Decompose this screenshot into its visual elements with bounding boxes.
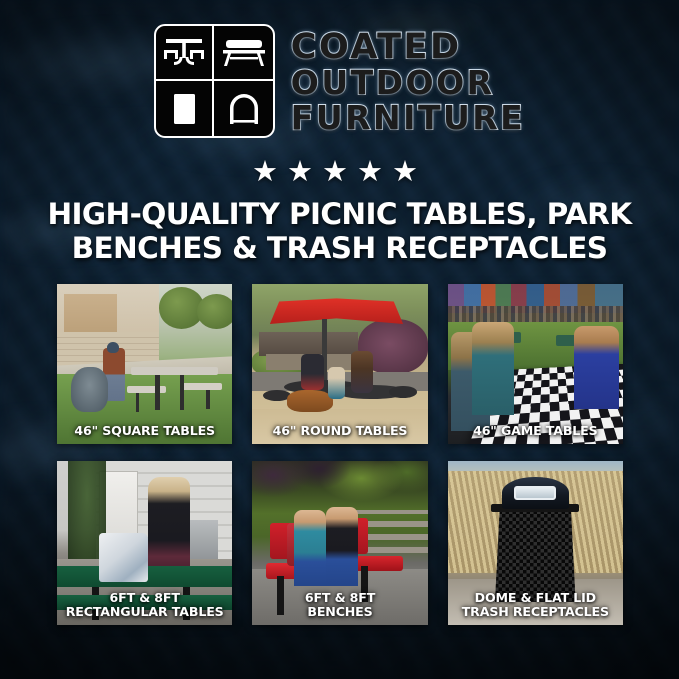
tile-caption-trash-receptacles: DOME & FLAT LID TRASH RECEPTACLES (450, 591, 621, 619)
poster-image: COATED OUTDOOR FURNITURE ★★★★★ HIGH-QUAL… (0, 0, 679, 679)
star-icon-4: ★ (357, 158, 392, 187)
caption-line: 46" SQUARE TABLES (59, 424, 230, 438)
star-icon-1: ★ (252, 158, 287, 187)
caption-line: RECTANGULAR TABLES (59, 605, 230, 619)
tile-caption-square-tables: 46" SQUARE TABLES (59, 424, 230, 438)
headline: HIGH-QUALITY PICNIC TABLES, PARK BENCHES… (30, 198, 649, 265)
tile-caption-round-tables: 46" ROUND TABLES (254, 424, 425, 438)
headline-line-2: BENCHES & TRASH RECEPTACLES (30, 232, 649, 266)
caption-line: 6FT & 8FT (59, 591, 230, 605)
caption-line: 46" GAME TABLES (450, 424, 621, 438)
caption-line: DOME & FLAT LID (450, 591, 621, 605)
logo-cell-bike-rack (214, 81, 273, 136)
product-tile-rectangular-tables[interactable]: 6FT & 8FT RECTANGULAR TABLES (57, 461, 232, 625)
tile-caption-game-tables: 46" GAME TABLES (450, 424, 621, 438)
caption-line: TRASH RECEPTACLES (450, 605, 621, 619)
photo-square-tables (57, 284, 232, 444)
product-tile-benches[interactable]: 6FT & 8FT BENCHES (252, 461, 427, 625)
logo-cell-picnic-table (156, 26, 215, 81)
caption-line: 46" ROUND TABLES (254, 424, 425, 438)
logo-word-coated: COATED (291, 30, 462, 66)
logo-cell-bench (214, 26, 273, 81)
caption-line: BENCHES (254, 605, 425, 619)
logo-word-outdoor: OUTDOOR (291, 66, 495, 100)
bike-rack-icon (221, 91, 267, 127)
photo-game-tables (448, 284, 623, 444)
product-tile-trash-receptacles[interactable]: DOME & FLAT LID TRASH RECEPTACLES (448, 461, 623, 625)
trash-receptacle-icon (161, 91, 207, 127)
product-tile-round-tables[interactable]: 46" ROUND TABLES (252, 284, 427, 444)
logo-wordmark: COATED OUTDOOR FURNITURE (291, 28, 525, 135)
product-tile-square-tables[interactable]: 46" SQUARE TABLES (57, 284, 232, 444)
picnic-table-icon (161, 36, 207, 70)
headline-line-1: HIGH-QUALITY PICNIC TABLES, PARK (47, 197, 631, 231)
product-tile-game-tables[interactable]: 46" GAME TABLES (448, 284, 623, 444)
star-icon-5: ★ (392, 158, 427, 187)
logo-mark (154, 24, 275, 138)
star-icon-2: ★ (287, 158, 322, 187)
star-icon-3: ★ (322, 158, 357, 187)
caption-line: 6FT & 8FT (254, 591, 425, 605)
five-star-rating: ★★★★★ (0, 158, 679, 187)
brand-logo: COATED OUTDOOR FURNITURE (0, 24, 679, 138)
logo-cell-trash-receptacle (156, 81, 215, 136)
tile-caption-rectangular-tables: 6FT & 8FT RECTANGULAR TABLES (59, 591, 230, 619)
logo-word-furniture: FURNITURE (291, 101, 525, 135)
photo-round-tables (252, 284, 427, 444)
product-tile-grid: 46" SQUARE TABLES (57, 284, 623, 625)
bench-icon (221, 36, 267, 70)
tile-caption-benches: 6FT & 8FT BENCHES (254, 591, 425, 619)
